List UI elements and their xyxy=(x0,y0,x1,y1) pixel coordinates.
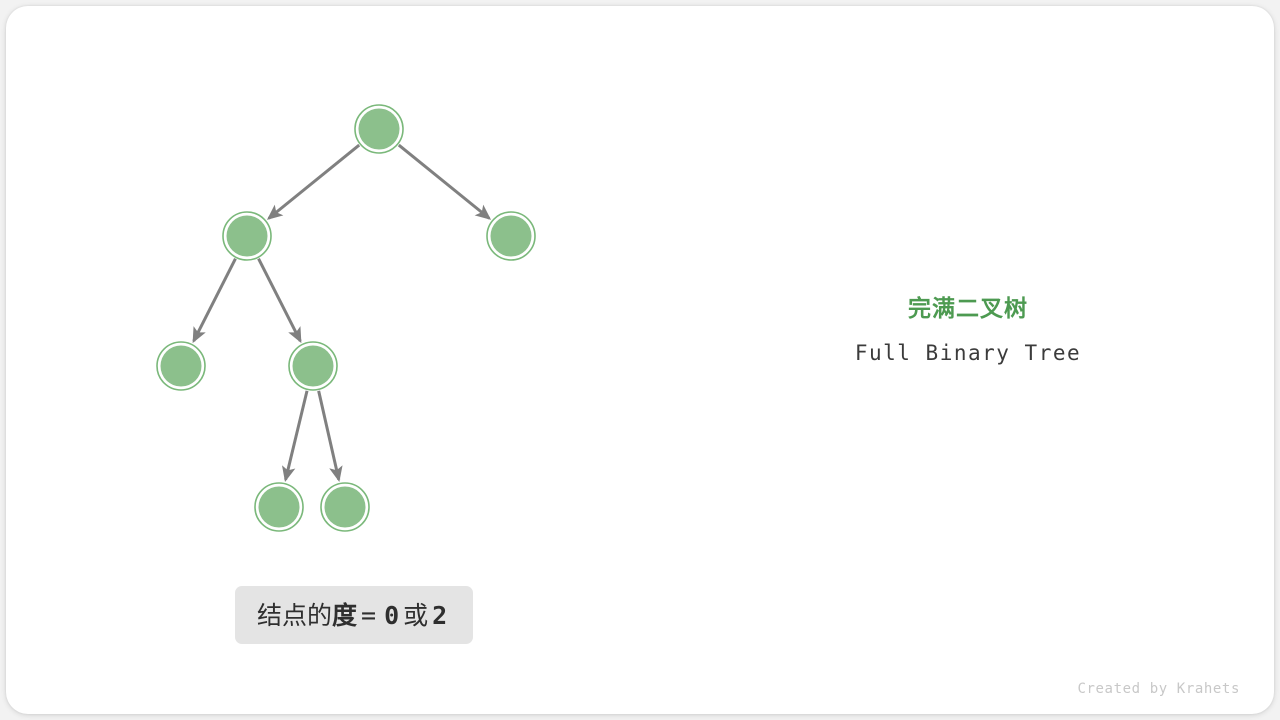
tree-node-n-left-left-leaf xyxy=(157,342,205,390)
title-english: Full Binary Tree xyxy=(768,338,1168,368)
tree-node-n-left-right xyxy=(289,342,337,390)
title-block: 完满二叉树 Full Binary Tree xyxy=(768,292,1168,368)
tree-node-n-leaf-b xyxy=(321,483,369,531)
node-body xyxy=(227,216,268,257)
tree-edge xyxy=(319,391,339,480)
caption-text-prefix: 结点的 xyxy=(257,596,332,632)
tree-node-n-leaf-a xyxy=(255,483,303,531)
tree-edges xyxy=(194,145,490,480)
screenshot-canvas: 完满二叉树 Full Binary Tree 结点的 度 = 0 或 2 Cre… xyxy=(0,0,1280,720)
caption-text-degree: 度 xyxy=(332,596,357,632)
tree-edge xyxy=(259,259,301,341)
node-body xyxy=(491,216,532,257)
tree-node-n-right-leaf xyxy=(487,212,535,260)
node-body xyxy=(259,487,300,528)
tree-node-n-left xyxy=(223,212,271,260)
tree-edge xyxy=(399,145,489,218)
degree-caption: 结点的 度 = 0 或 2 xyxy=(235,586,473,644)
tree-nodes xyxy=(157,105,535,531)
caption-conjunction: 或 xyxy=(403,596,428,632)
tree-edge xyxy=(194,259,236,341)
tree-edge xyxy=(269,145,359,218)
caption-value-zero: 0 xyxy=(384,601,399,630)
node-body xyxy=(161,346,202,387)
node-body xyxy=(359,109,400,150)
tree-node-root xyxy=(355,105,403,153)
caption-value-two: 2 xyxy=(432,601,447,630)
node-body xyxy=(325,487,366,528)
caption-equals-sign: = xyxy=(361,601,376,630)
credit-text: Created by Krahets xyxy=(1077,681,1240,697)
node-body xyxy=(293,346,334,387)
tree-edge xyxy=(286,391,307,480)
title-chinese: 完满二叉树 xyxy=(768,292,1168,324)
